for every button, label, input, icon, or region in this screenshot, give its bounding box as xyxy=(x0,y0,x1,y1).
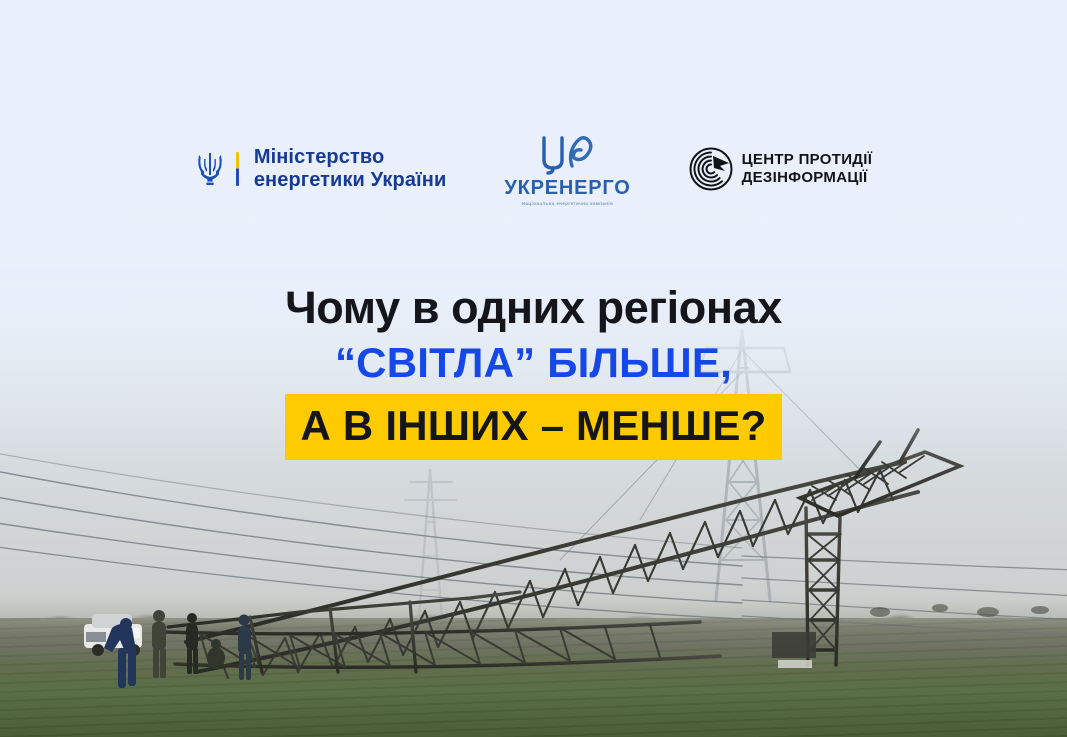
logo-row: Міністерство енергетики України УКРЕНЕРГ… xyxy=(0,132,1067,206)
logo-cpd: ЦЕНТР ПРОТИДІЇ ДЕЗІНФОРМАЦІЇ xyxy=(689,147,873,191)
ukrenergo-tagline: Національна енергетична компанія xyxy=(522,202,613,207)
cpd-spiral-eagle-icon xyxy=(689,147,733,191)
ministry-line-2: енергетики України xyxy=(254,169,447,191)
ukrenergo-wordmark: УКРЕНЕРГО xyxy=(504,178,630,198)
poster: Міністерство енергетики України УКРЕНЕРГ… xyxy=(0,0,1067,737)
cpd-line-2: ДЕЗІНФОРМАЦІЇ xyxy=(742,169,868,186)
ministry-line-1: Міністерство xyxy=(254,146,384,168)
cpd-line-1: ЦЕНТР ПРОТИДІЇ xyxy=(742,151,873,168)
logo-ministry-of-energy: Міністерство енергетики України xyxy=(195,146,447,193)
cpd-wordmark: ЦЕНТР ПРОТИДІЇ ДЕЗІНФОРМАЦІЇ xyxy=(742,151,873,187)
headline-line-3-highlight: А В ІНШИХ – МЕНШЕ? xyxy=(285,394,783,460)
logo-ukrenergo: УКРЕНЕРГО Національна енергетична компан… xyxy=(504,132,630,206)
headline-line-1: Чому в одних регіонах xyxy=(0,285,1067,342)
logo-divider xyxy=(236,152,239,186)
headline-line-2: “СВІТЛА” БІЛЬШЕ, xyxy=(0,342,1067,394)
ministry-wordmark: Міністерство енергетики України xyxy=(254,146,447,193)
ukraine-trident-icon xyxy=(195,151,225,187)
ukrenergo-monogram-icon xyxy=(532,132,602,176)
headline-block: Чому в одних регіонах “СВІТЛА” БІЛЬШЕ, А… xyxy=(0,285,1067,460)
headline-line-3-wrap: А В ІНШИХ – МЕНШЕ? xyxy=(0,394,1067,460)
